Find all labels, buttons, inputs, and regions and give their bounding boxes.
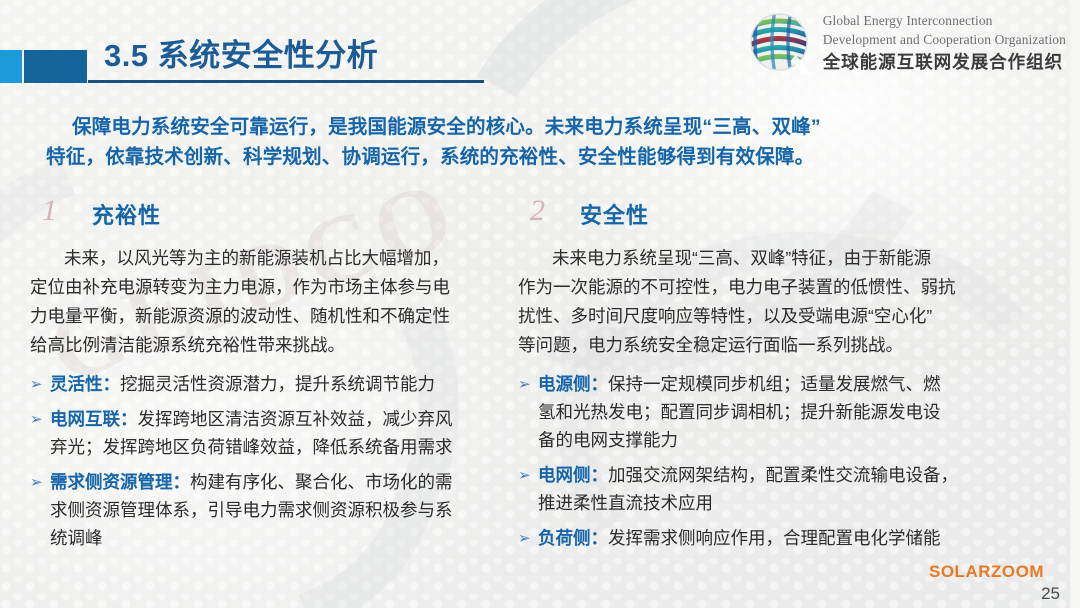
solarzoom-watermark: SOLARZOOM <box>929 562 1044 582</box>
lead-line-1: 保障电力系统安全可靠运行，是我国能源安全的核心。未来电力系统呈现“三高、双峰” <box>46 112 1036 142</box>
bullet-label: 负荷侧 <box>538 528 591 548</box>
arrow-bullet-icon: ➢ <box>518 525 538 553</box>
bullet-text-line: 统调峰 <box>50 524 453 552</box>
bullet-separator: ： <box>173 472 191 492</box>
bullet-text-line: 弃光；发挥跨地区负荷错峰效益，降低系统备用需求 <box>50 433 453 461</box>
header-underline <box>88 80 484 83</box>
logo-english-line-1: Global Energy Interconnection <box>823 13 993 28</box>
paragraph-line: 未来，以风光等为主的新能源装机占比大幅增加， <box>30 244 538 273</box>
logo-chinese-name: 全球能源互联网发展合作组织 <box>823 52 1066 73</box>
header-accent-square-light <box>0 50 22 83</box>
arrow-bullet-icon: ➢ <box>30 469 50 497</box>
bullet-separator: ： <box>591 374 609 394</box>
bullet-text-line: 保持一定规模同步机组；适量发展燃气、燃 <box>608 374 941 394</box>
bullet-separator: ： <box>120 409 138 429</box>
paragraph-line: 力电量平衡，新能源资源的波动性、随机性和不确定性 <box>30 302 538 331</box>
header-accent-square-dark <box>24 50 87 83</box>
list-item: ➢ 灵活性：挖掘灵活性资源潜力，提升系统调节能力 <box>30 370 538 398</box>
bullet-separator: ： <box>103 374 121 394</box>
page-number: 25 <box>1041 584 1060 604</box>
arrow-bullet-icon: ➢ <box>30 406 50 434</box>
bullet-text-line: 氢和光热发电；配置同步调相机；提升新能源发电设 <box>538 398 941 426</box>
section-heading: 1 充裕性 <box>30 198 538 236</box>
paragraph-line: 扰性、多时间尺度响应等特性，以及受端电源“空心化” <box>518 302 1070 331</box>
section-paragraph: 未来，以风光等为主的新能源装机占比大幅增加， 定位由补充电源转变为主力电源，作为… <box>30 244 538 360</box>
bullet-label: 电网互联 <box>50 409 120 429</box>
list-item: ➢ 电源侧：保持一定规模同步机组；适量发展燃气、燃 氢和光热发电；配置同步调相机… <box>518 370 1070 454</box>
bullet-label: 电源侧 <box>538 374 591 394</box>
bullet-label: 灵活性 <box>50 374 103 394</box>
section-number-badge: 2 <box>530 194 545 228</box>
paragraph-line: 作为一次能源的不可控性，电力电子装置的低惯性、弱抗 <box>518 273 1070 302</box>
section-title: 充裕性 <box>92 198 161 230</box>
bullet-text-line: 加强交流网架结构，配置柔性交流输电设备， <box>608 465 958 485</box>
bullet-text-line: 推进柔性直流技术应用 <box>538 489 958 517</box>
list-item: ➢ 电网互联：发挥跨地区清洁资源互补效益，减少弃风 弃光；发挥跨地区负荷错峰效益… <box>30 405 538 461</box>
lead-line-2: 特征，依靠技术创新、科学规划、协调运行，系统的充裕性、安全性能够得到有效保障。 <box>46 142 1036 172</box>
bullet-list: ➢ 电源侧：保持一定规模同步机组；适量发展燃气、燃 氢和光热发电；配置同步调相机… <box>518 370 1070 552</box>
bullet-text-line: 发挥跨地区清洁资源互补效益，减少弃风 <box>138 409 453 429</box>
slide-header: 3.5 系统安全性分析 <box>0 0 1080 92</box>
slide-canvas: GEIDCO 3.5 系统安全性分析 <box>0 0 1080 608</box>
paragraph-line: 给高比例清洁能源系统充裕性带来挑战。 <box>30 331 538 360</box>
bullet-text-line: 发挥需求侧响应作用，合理配置电化学储能 <box>608 528 941 548</box>
paragraph-line: 定位由补充电源转变为主力电源，作为市场主体参与电 <box>30 273 538 302</box>
paragraph-line: 未来电力系统呈现“三高、双峰”特征，由于新能源 <box>518 244 1070 273</box>
bullet-separator: ： <box>591 528 609 548</box>
bullet-text-line: 求侧资源管理体系，引导电力需求侧资源积极参与系 <box>50 496 453 524</box>
section-title: 安全性 <box>580 198 649 230</box>
logo-english-line-2: Development and Cooperation Organization <box>823 32 1066 47</box>
bullet-list: ➢ 灵活性：挖掘灵活性资源潜力，提升系统调节能力 ➢ 电网互联：发挥跨地区清洁资… <box>30 370 538 552</box>
organization-logo: Global Energy Interconnection Developmen… <box>745 8 1066 76</box>
globe-logo-icon <box>745 8 813 76</box>
bullet-text-line: 构建有序化、聚合化、市场化的需 <box>190 472 453 492</box>
arrow-bullet-icon: ➢ <box>30 371 50 399</box>
list-item: ➢ 电网侧：加强交流网架结构，配置柔性交流输电设备， 推进柔性直流技术应用 <box>518 461 1070 517</box>
list-item: ➢ 需求侧资源管理：构建有序化、聚合化、市场化的需 求侧资源管理体系，引导电力需… <box>30 468 538 552</box>
arrow-bullet-icon: ➢ <box>518 371 538 399</box>
arrow-bullet-icon: ➢ <box>518 462 538 490</box>
section-paragraph: 未来电力系统呈现“三高、双峰”特征，由于新能源 作为一次能源的不可控性，电力电子… <box>518 244 1070 360</box>
bullet-label: 需求侧资源管理 <box>50 472 173 492</box>
page-title: 3.5 系统安全性分析 <box>104 30 378 75</box>
bullet-text-line: 挖掘灵活性资源潜力，提升系统调节能力 <box>120 374 435 394</box>
bullet-separator: ： <box>591 465 609 485</box>
right-edge-strip <box>1070 0 1080 608</box>
column-security: 2 安全性 未来电力系统呈现“三高、双峰”特征，由于新能源 作为一次能源的不可控… <box>518 198 1070 559</box>
section-number-badge: 1 <box>42 194 57 228</box>
section-heading: 2 安全性 <box>518 198 1070 236</box>
list-item: ➢ 负荷侧：发挥需求侧响应作用，合理配置电化学储能 <box>518 524 1070 552</box>
column-adequacy: 1 充裕性 未来，以风光等为主的新能源装机占比大幅增加， 定位由补充电源转变为主… <box>30 198 538 559</box>
lead-paragraph: 保障电力系统安全可靠运行，是我国能源安全的核心。未来电力系统呈现“三高、双峰” … <box>46 112 1036 172</box>
bullet-label: 电网侧 <box>538 465 591 485</box>
paragraph-line: 等问题，电力系统安全稳定运行面临一系列挑战。 <box>518 331 1070 360</box>
bullet-text-line: 备的电网支撑能力 <box>538 426 941 454</box>
